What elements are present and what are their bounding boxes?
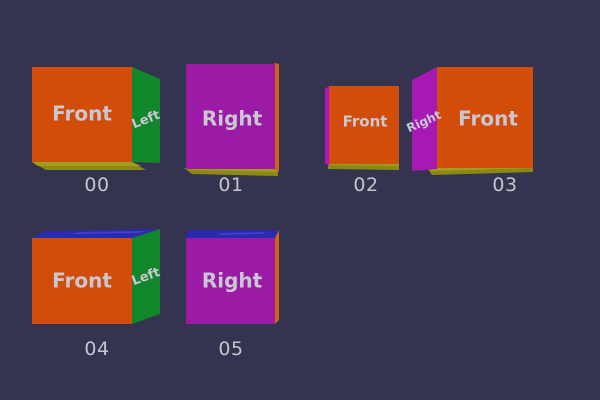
cube-05-label-right: Right <box>202 269 263 293</box>
cube-03[interactable]: Front Right <box>410 58 540 178</box>
cube-03-label-front: Front <box>458 107 518 131</box>
cube-00-index: 00 <box>84 174 109 196</box>
cube-04[interactable]: Front Left <box>28 222 178 332</box>
cube-02[interactable]: Front <box>320 72 415 177</box>
scene-canvas: Front Left 00 Right 01 Front 0 <box>0 0 600 400</box>
cube-02-index: 02 <box>353 174 378 196</box>
cube-00[interactable]: Front Left <box>28 60 178 175</box>
cube-05-index: 05 <box>218 338 243 360</box>
cube-00-label-front: Front <box>52 102 112 126</box>
cube-05-face-front-sliver <box>275 230 279 324</box>
cube-01-index: 01 <box>218 174 243 196</box>
cube-02-label-front: Front <box>343 113 388 131</box>
cube-01-label-right: Right <box>202 107 263 131</box>
cube-03-index: 03 <box>492 174 517 196</box>
cube-02-face-right <box>325 86 329 166</box>
cube-00-face-bottom-shade <box>32 162 141 166</box>
cube-05[interactable]: Right <box>182 222 292 332</box>
cube-01[interactable]: Right <box>182 60 292 175</box>
cube-04-index: 04 <box>84 338 109 360</box>
cube-04-label-front: Front <box>52 269 112 293</box>
